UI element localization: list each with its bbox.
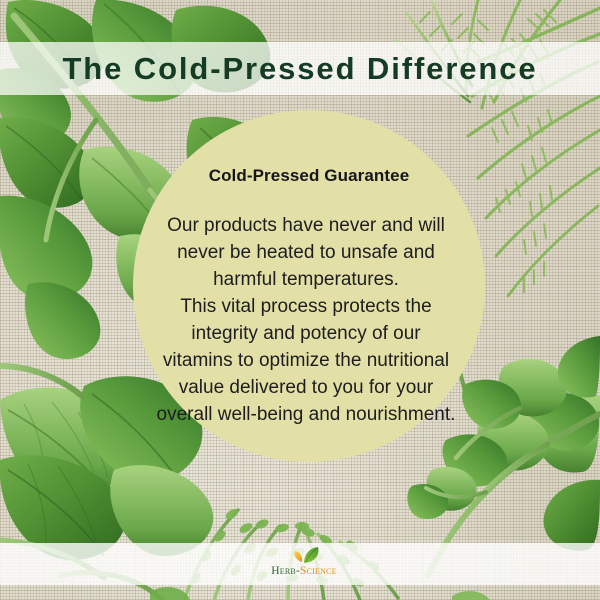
- brand-name-part-two: Science: [300, 565, 337, 577]
- guarantee-content: Cold-Pressed Guarantee Our products have…: [133, 110, 485, 462]
- guarantee-body: Our products have never and will never b…: [136, 212, 476, 428]
- body-line: integrity and potency of our: [136, 320, 476, 347]
- brand-logo: Herb-Science: [256, 546, 352, 582]
- brand-wordmark: Herb-Science: [256, 565, 352, 578]
- body-line: Our products have never and will: [136, 212, 476, 239]
- body-line: This vital process protects the: [136, 293, 476, 320]
- cold-pressed-difference-poster: The Cold-Pressed Difference Cold-Pressed…: [0, 0, 600, 600]
- leaf-swoosh-icon: [282, 546, 328, 566]
- guarantee-heading: Cold-Pressed Guarantee: [209, 166, 410, 186]
- body-line: vitamins to optimize the nutritional: [136, 347, 476, 374]
- page-title: The Cold-Pressed Difference: [0, 46, 600, 92]
- body-line: value delivered to you for your: [136, 374, 476, 401]
- brand-name-part-one: Herb-: [271, 565, 300, 577]
- guarantee-circle: Cold-Pressed Guarantee Our products have…: [133, 110, 485, 462]
- body-line: overall well-being and nourishment.: [136, 401, 476, 428]
- body-line: harmful temperatures.: [136, 266, 476, 293]
- body-line: never be heated to unsafe and: [136, 239, 476, 266]
